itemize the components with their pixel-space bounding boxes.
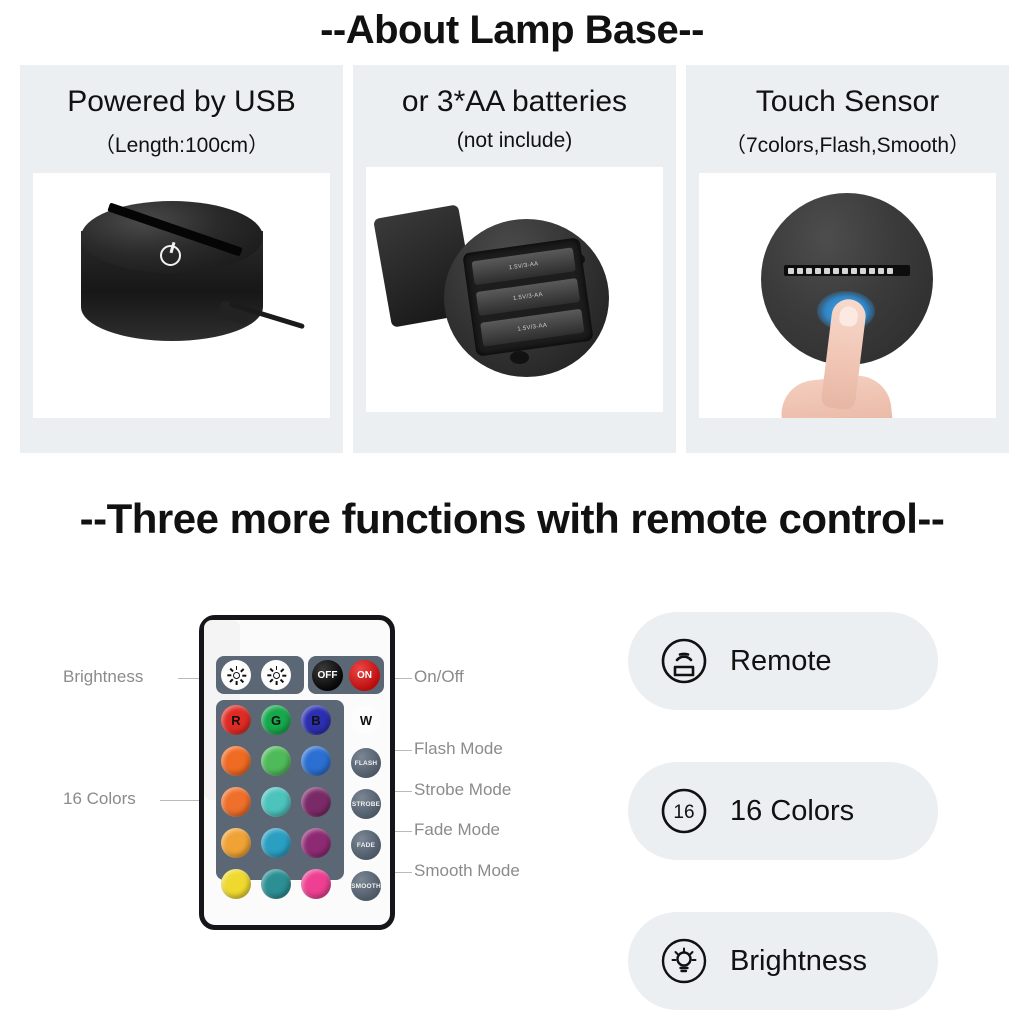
card-title: or 3*AA batteries [402, 85, 627, 118]
infographic-page: --About Lamp Base-- Powered by USB （Leng… [0, 0, 1024, 1024]
sun-ray [240, 668, 244, 672]
blue-button[interactable]: B [301, 705, 331, 735]
touch-sensor-photo [699, 173, 996, 418]
strobe-mode-button[interactable]: STROBE [351, 789, 381, 819]
fade-mode-button[interactable]: FADE [351, 830, 381, 860]
sun-ray [276, 666, 278, 670]
battery-slot-label: 1.5V/3-AA [480, 309, 584, 347]
on-button[interactable]: ON [349, 660, 380, 691]
sun-icon [228, 667, 245, 684]
sun-ray [267, 674, 271, 676]
rubber-foot [510, 351, 529, 364]
brightness-down-button[interactable] [261, 660, 291, 690]
blue-button-label: B [301, 705, 331, 735]
sun-core [273, 672, 280, 679]
card-powered-by-usb: Powered by USB （Length:100cm） [20, 65, 343, 453]
color-button[interactable] [221, 828, 251, 858]
sun-ray [269, 668, 273, 672]
fingernail [838, 305, 858, 327]
callout-smooth-mode: Smooth Mode [414, 861, 520, 881]
sun-ray [229, 668, 233, 672]
callout-flash-mode: Flash Mode [414, 739, 503, 759]
color-button[interactable] [301, 746, 331, 776]
page-title-three-more-functions: --Three more functions with remote contr… [0, 495, 1024, 543]
green-button[interactable]: G [261, 705, 291, 735]
lightbulb-icon [660, 937, 708, 985]
card-touch-sensor: Touch Sensor （7colors,Flash,Smooth） [686, 65, 1009, 453]
off-button[interactable]: OFF [312, 660, 343, 691]
battery-well: 1.5V/3-AA 1.5V/3-AA 1.5V/3-AA [462, 237, 593, 356]
color-button[interactable] [261, 746, 291, 776]
color-button[interactable] [261, 787, 291, 817]
green-button-label: G [261, 705, 291, 735]
card-subtitle: (not include) [457, 129, 573, 153]
led-strip [784, 265, 910, 276]
brightness-up-button[interactable] [221, 660, 251, 690]
callout-brightness: Brightness [63, 667, 143, 687]
callout-16-colors: 16 Colors [63, 789, 136, 809]
color-button[interactable] [221, 869, 251, 899]
color-button[interactable] [301, 787, 331, 817]
remote-signal-icon [660, 637, 708, 685]
card-aa-batteries: or 3*AA batteries (not include) 1.5V/3-A… [353, 65, 676, 453]
sun-ray [242, 674, 246, 676]
power-button-icon [160, 245, 181, 266]
pill-label: Brightness [730, 945, 867, 978]
sun-ray [229, 678, 233, 682]
sixteen-circle-icon: 16 [660, 787, 708, 835]
red-button[interactable]: R [221, 705, 251, 735]
color-button[interactable] [261, 828, 291, 858]
sun-icon [268, 667, 285, 684]
sun-ray [240, 678, 244, 682]
sun-ray [280, 678, 284, 682]
sun-ray [236, 666, 238, 670]
card-title: Powered by USB [67, 85, 295, 118]
color-button[interactable] [221, 787, 251, 817]
sun-ray [269, 678, 273, 682]
svg-text:16: 16 [673, 802, 694, 823]
color-button[interactable] [301, 828, 331, 858]
sun-ray [280, 668, 284, 672]
white-button[interactable]: W [351, 705, 381, 735]
page-title-about-lamp-base: --About Lamp Base-- [0, 8, 1024, 53]
callout-strobe-mode: Strobe Mode [414, 780, 511, 800]
pill-brightness[interactable]: Brightness [628, 912, 938, 1010]
battery-compartment-photo: 1.5V/3-AA 1.5V/3-AA 1.5V/3-AA [366, 167, 663, 412]
red-button-label: R [221, 705, 251, 735]
card-subtitle: （7colors,Flash,Smooth） [725, 129, 970, 159]
callout-on-off: On/Off [414, 667, 464, 687]
sun-ray [276, 681, 278, 685]
sun-ray [227, 674, 231, 676]
color-button[interactable] [301, 869, 331, 899]
remote-control-body[interactable]: OFF ON R G B W FLASH STROBE FADE SMOOTH [199, 615, 395, 930]
sun-ray [236, 681, 238, 685]
sun-core [233, 672, 240, 679]
feature-pill-list: Remote 16 16 Colors Brightness [628, 612, 938, 1024]
lamp-base-card-row: Powered by USB （Length:100cm） or 3*AA ba… [20, 65, 1010, 453]
color-button[interactable] [261, 869, 291, 899]
card-title: Touch Sensor [756, 85, 939, 118]
pill-label: Remote [730, 645, 832, 678]
pill-remote[interactable]: Remote [628, 612, 938, 710]
pill-16-colors[interactable]: 16 16 Colors [628, 762, 938, 860]
card-subtitle: （Length:100cm） [94, 129, 269, 159]
flash-mode-button[interactable]: FLASH [351, 748, 381, 778]
smooth-mode-button[interactable]: SMOOTH [351, 871, 381, 901]
lamp-base-top-surface [81, 201, 263, 273]
pill-label: 16 Colors [730, 795, 854, 828]
color-button[interactable] [221, 746, 251, 776]
lamp-base-usb-photo [33, 173, 330, 418]
sun-ray [282, 674, 286, 676]
callout-fade-mode: Fade Mode [414, 820, 500, 840]
remote-control-diagram: Brightness 16 Colors On/Off Flash Mode S… [0, 600, 620, 980]
